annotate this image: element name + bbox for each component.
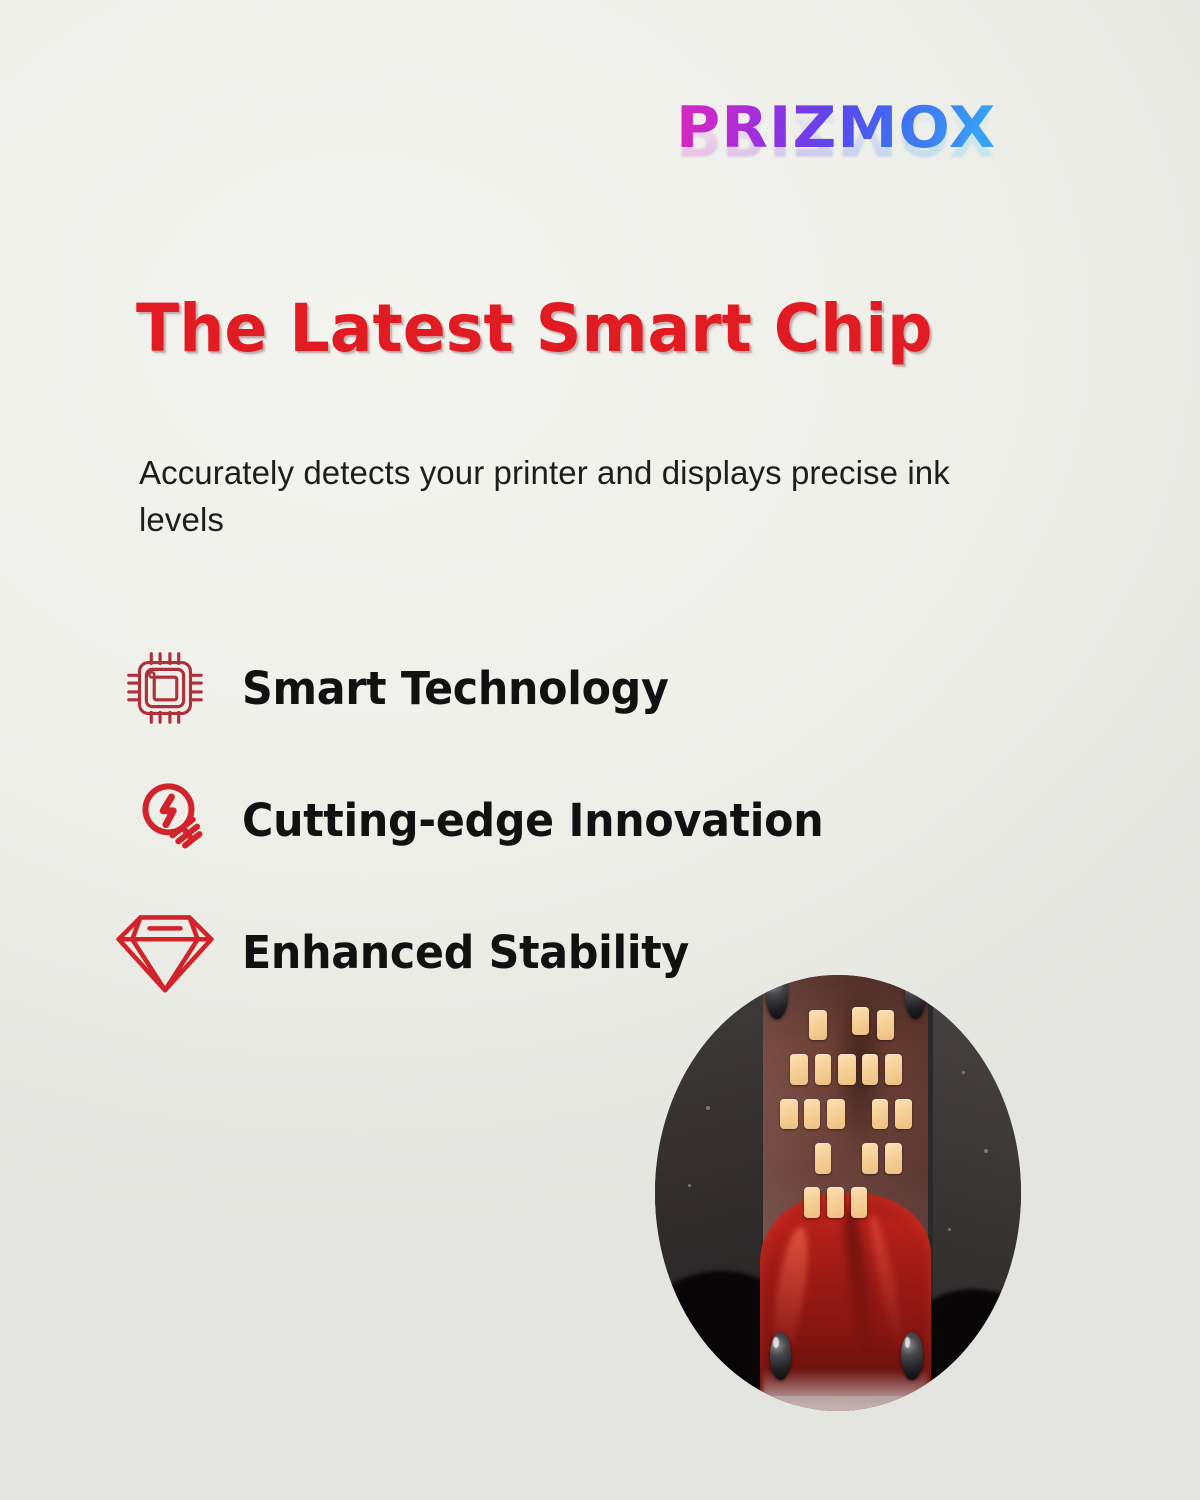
feature-item-smart-technology: Smart Technology <box>104 622 984 754</box>
contact-pad <box>851 1187 868 1218</box>
brand-logo: PRIZMOX PRIZMOX <box>676 100 1056 230</box>
contact-pad <box>809 1010 827 1041</box>
contact-pad <box>838 1054 856 1085</box>
page-subtitle: Accurately detects your printer and disp… <box>139 450 999 544</box>
feature-label: Enhanced Stability <box>242 926 689 979</box>
contact-pad <box>804 1187 821 1218</box>
contact-pad <box>877 1010 894 1041</box>
contact-pad <box>852 1007 869 1035</box>
contact-pad <box>862 1054 879 1085</box>
feature-label: Cutting-edge Innovation <box>242 794 823 847</box>
contact-pad <box>885 1143 902 1174</box>
smart-chip-closeup-photo <box>655 975 1021 1411</box>
contact-pad <box>885 1054 902 1085</box>
page-title: The Latest Smart Chip <box>136 296 933 362</box>
dust-speck <box>948 1228 951 1231</box>
contact-pad <box>827 1187 844 1218</box>
contact-pad <box>872 1099 889 1130</box>
feature-label: Smart Technology <box>242 662 669 715</box>
microchip-icon <box>104 632 226 744</box>
diamond-icon <box>104 896 226 1008</box>
contact-pad <box>815 1054 832 1085</box>
contact-pad <box>827 1099 845 1130</box>
chip-contact-strip <box>763 975 928 1411</box>
ink-base-reflection <box>763 1369 928 1411</box>
lightbulb-idea-icon <box>104 764 226 876</box>
photo-content <box>655 975 1021 1411</box>
contact-pad <box>815 1143 832 1174</box>
board-screw <box>766 975 787 1019</box>
contact-pad-grid <box>776 999 914 1276</box>
brand-logo-text: PRIZMOX <box>676 100 1079 157</box>
contact-pad <box>862 1143 879 1174</box>
board-screw <box>770 1332 791 1380</box>
contact-pad <box>780 1099 798 1130</box>
poster-canvas: PRIZMOX PRIZMOX The Latest Smart Chip Ac… <box>0 0 1200 1500</box>
contact-pad <box>790 1054 808 1085</box>
feature-list: Smart Technology Cutting-edge Innovation <box>104 622 984 1018</box>
contact-pad <box>895 1099 912 1130</box>
contact-pad <box>804 1099 821 1130</box>
board-screw <box>901 1332 922 1380</box>
feature-item-cutting-edge-innovation: Cutting-edge Innovation <box>104 754 984 886</box>
